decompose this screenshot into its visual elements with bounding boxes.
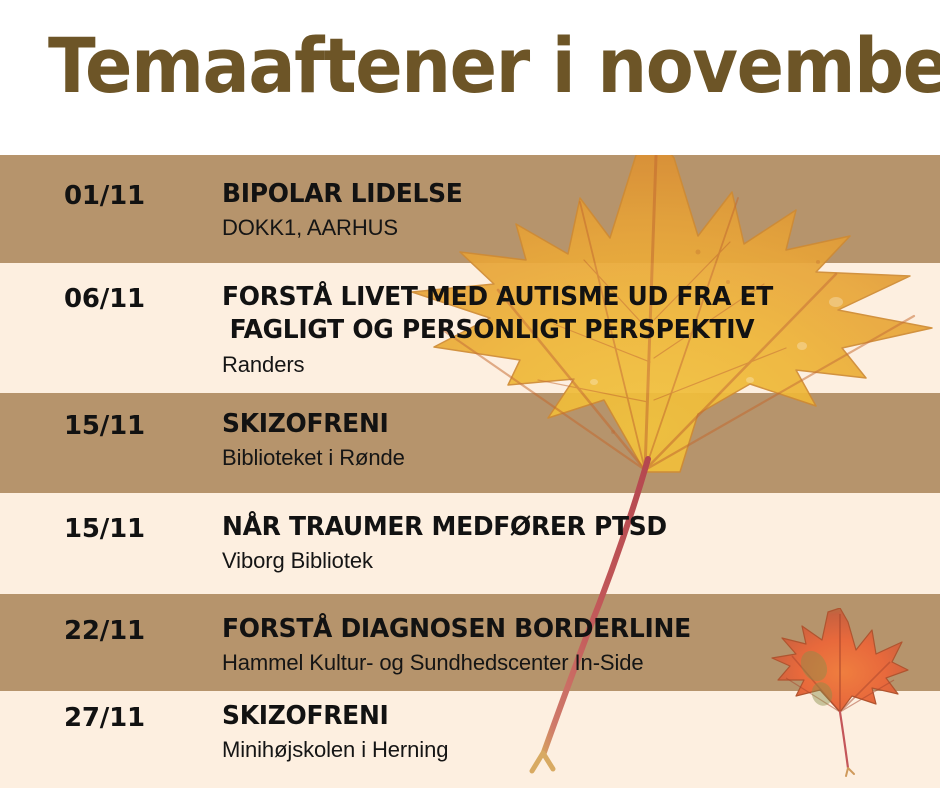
event-date: 15/11 (64, 514, 145, 544)
event-venue: Minihøjskolen i Herning (222, 736, 930, 765)
event-body: SKIZOFRENI Minihøjskolen i Herning (222, 700, 930, 765)
event-date: 15/11 (64, 411, 145, 441)
event-body: FORSTÅ DIAGNOSEN BORDERLINE Hammel Kultu… (222, 613, 930, 678)
event-body: NÅR TRAUMER MEDFØRER PTSD Viborg Bibliot… (222, 511, 930, 576)
event-title: FORSTÅ DIAGNOSEN BORDERLINE (222, 613, 902, 646)
event-title: NÅR TRAUMER MEDFØRER PTSD (222, 511, 902, 544)
title-band: Temaaftener i november (0, 0, 940, 155)
page-title: Temaaftener i november (48, 26, 940, 106)
event-title: BIPOLAR LIDELSE (222, 178, 902, 211)
event-venue: Viborg Bibliotek (222, 547, 930, 576)
event-venue: DOKK1, AARHUS (222, 214, 930, 243)
event-body: FORSTÅ LIVET MED AUTISME UD FRA ET FAGLI… (222, 281, 930, 379)
event-body: BIPOLAR LIDELSE DOKK1, AARHUS (222, 178, 930, 243)
poster-canvas: Temaaftener i november 01/11 BIPOLAR LID… (0, 0, 940, 788)
event-venue: Hammel Kultur- og Sundhedscenter In-Side (222, 649, 930, 678)
event-date: 22/11 (64, 616, 145, 646)
event-date: 01/11 (64, 181, 145, 211)
event-date: 27/11 (64, 703, 145, 733)
event-venue: Biblioteket i Rønde (222, 444, 930, 473)
event-body: SKIZOFRENI Biblioteket i Rønde (222, 408, 930, 473)
event-title-line1: FORSTÅ LIVET MED AUTISME UD FRA ET (222, 281, 902, 314)
event-title-line2: FAGLIGT OG PERSONLIGT PERSPEKTIV (222, 314, 902, 347)
event-title: SKIZOFRENI (222, 408, 902, 441)
event-title: SKIZOFRENI (222, 700, 902, 733)
event-venue: Randers (222, 351, 930, 380)
event-date: 06/11 (64, 284, 145, 314)
